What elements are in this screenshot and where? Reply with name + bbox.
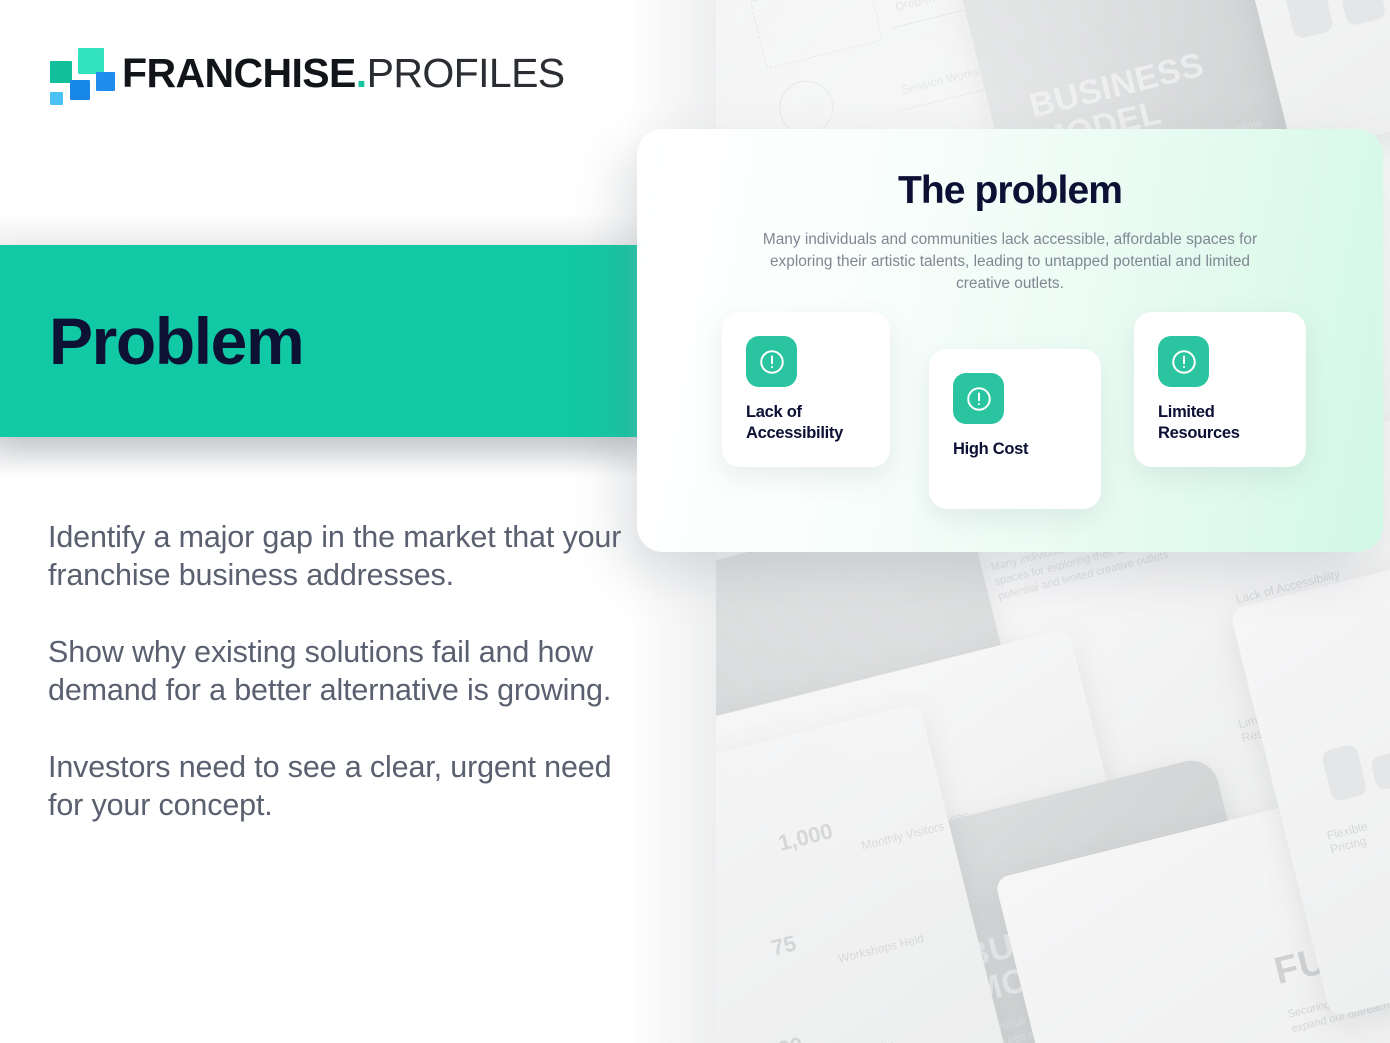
bg-value: 20	[776, 1032, 806, 1043]
bg-value: 75	[769, 930, 799, 961]
band-shadow-top	[0, 214, 640, 246]
alert-circle-icon	[953, 373, 1004, 424]
bg-label: Flexible Pricing	[1325, 810, 1390, 857]
alert-circle-icon	[1158, 336, 1209, 387]
bg-value: 1,000	[776, 818, 836, 857]
feature-card-lack-of-accessibility[interactable]: Lack of Accessibility	[722, 312, 890, 467]
logo-square-blue	[70, 80, 90, 100]
preview-subtitle: Many individuals and communities lack ac…	[755, 229, 1265, 295]
feature-label: Lack of Accessibility	[746, 402, 878, 444]
brand-wordmark: FRANCHISE.PROFILES	[122, 53, 565, 97]
section-title-band: Problem	[0, 245, 638, 437]
squares-logo-mark-icon	[48, 47, 104, 103]
description-paragraph-3: Investors need to see a clear, urgent ne…	[48, 748, 623, 825]
band-shadow-bottom	[0, 437, 638, 477]
brand-name-bold: FRANCHISE	[122, 50, 356, 96]
page-title: Problem	[49, 308, 303, 374]
bg-label: Workshops Held	[837, 931, 926, 966]
logo-square-light-blue	[50, 92, 63, 105]
logo-square-blue-alt	[96, 72, 115, 91]
feature-label: Limited Resources	[1158, 402, 1294, 444]
logo-square-teal	[50, 61, 72, 83]
description-paragraph-1: Identify a major gap in the market that …	[48, 518, 623, 595]
brand-name-light: PROFILES	[367, 50, 565, 96]
brand-logo[interactable]: FRANCHISE.PROFILES	[48, 40, 548, 110]
feature-label: High Cost	[953, 439, 1089, 460]
left-content-column: FRANCHISE.PROFILES Problem Identify a ma…	[0, 0, 716, 1043]
slide-canvas: Drop-In Fees Session Workshops Commissio…	[0, 0, 1390, 1043]
brand-name-dot: .	[356, 50, 367, 96]
alert-circle-icon	[746, 336, 797, 387]
bg-label: Monthly Visitors	[860, 819, 945, 853]
bg-label: Community Partnerships	[833, 1028, 937, 1043]
description-block: Identify a major gap in the market that …	[48, 518, 623, 825]
feature-card-high-cost[interactable]: High Cost	[929, 349, 1101, 509]
feature-card-limited-resources[interactable]: Limited Resources	[1134, 312, 1306, 467]
preview-title: The problem	[637, 169, 1383, 213]
description-paragraph-2: Show why existing solutions fail and how…	[48, 633, 623, 710]
slide-preview-card[interactable]: The problem Many individuals and communi…	[637, 129, 1383, 552]
logo-square-mint	[78, 48, 104, 74]
